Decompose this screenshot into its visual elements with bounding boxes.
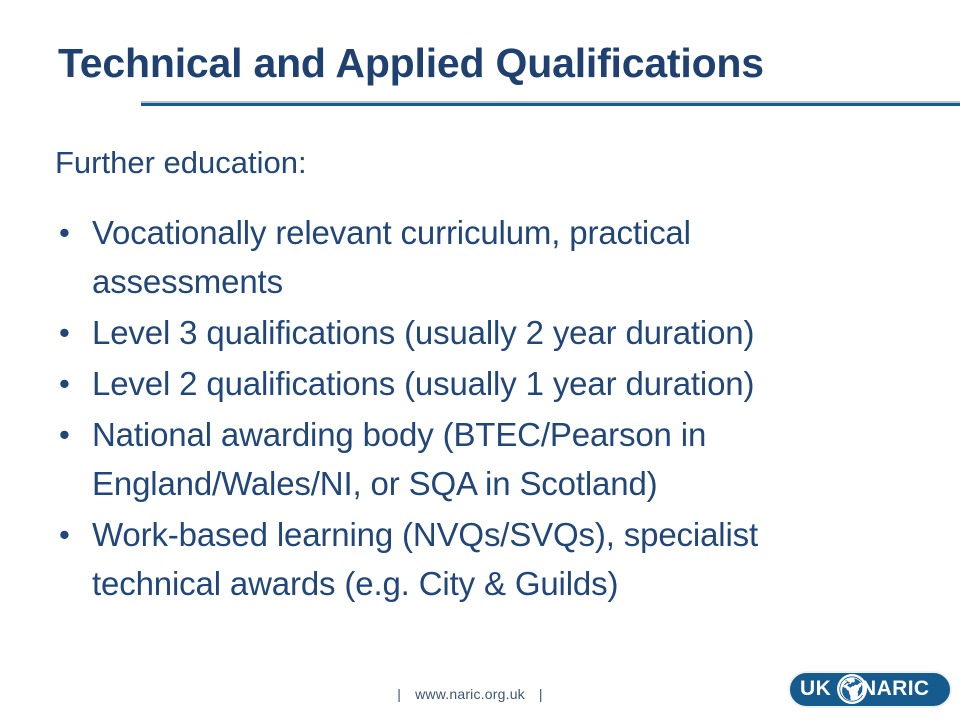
- list-item-label: National awarding body (BTEC/Pearson in …: [92, 410, 885, 508]
- bullet-dot-icon: •: [55, 359, 92, 408]
- list-item-label: Level 3 qualifications (usually 2 year d…: [92, 308, 885, 357]
- bullet-list: • Vocationally relevant curriculum, prac…: [55, 208, 885, 610]
- section-intro-label: Further education:: [55, 144, 307, 183]
- bullet-dot-icon: •: [55, 208, 92, 257]
- list-item: • Vocationally relevant curriculum, prac…: [55, 208, 885, 306]
- footer-inner: |www.naric.org.uk|: [383, 686, 556, 702]
- slide-canvas: Technical and Applied Qualifications Fur…: [0, 0, 960, 720]
- list-item: • National awarding body (BTEC/Pearson i…: [55, 410, 885, 508]
- list-item: • Level 3 qualifications (usually 2 year…: [55, 308, 885, 357]
- footer-separator-left: |: [383, 686, 415, 702]
- list-item-label: Level 2 qualifications (usually 1 year d…: [92, 359, 885, 408]
- logo-text-naric: NARIC: [861, 678, 930, 700]
- title-divider-line: [141, 103, 960, 106]
- footer-separator-right: |: [525, 686, 557, 702]
- footer-url: www.naric.org.uk: [415, 686, 525, 702]
- bullet-dot-icon: •: [55, 410, 92, 459]
- bullet-dot-icon: •: [55, 510, 92, 559]
- uk-naric-logo: UK NARIC: [788, 671, 952, 708]
- logo-text-uk: UK: [800, 678, 831, 700]
- page-title: Technical and Applied Qualifications: [58, 41, 938, 87]
- bullet-dot-icon: •: [55, 308, 92, 357]
- list-item-label: Vocationally relevant curriculum, practi…: [92, 208, 885, 306]
- list-item: • Work-based learning (NVQs/SVQs), speci…: [55, 510, 885, 608]
- list-item: • Level 2 qualifications (usually 1 year…: [55, 359, 885, 408]
- title-divider: [141, 101, 960, 106]
- list-item-label: Work-based learning (NVQs/SVQs), special…: [92, 510, 885, 608]
